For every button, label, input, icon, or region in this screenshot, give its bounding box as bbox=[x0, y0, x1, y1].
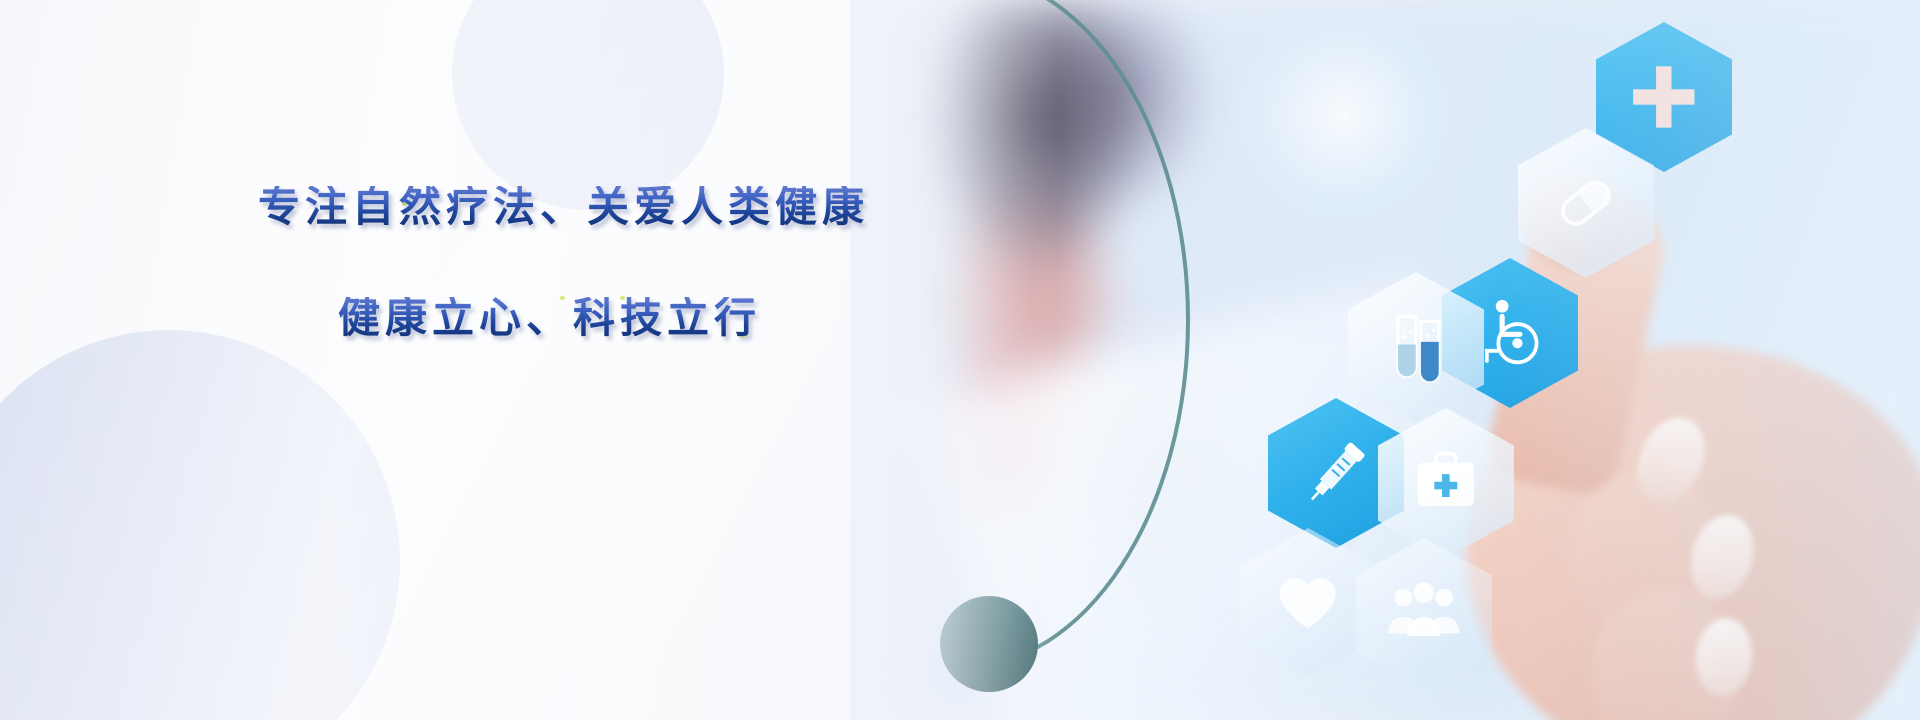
medical-hero-banner: 专注自然疗法、关爱人类健康 健康立心、科技立行 bbox=[0, 0, 1920, 720]
medical-cross-icon bbox=[1623, 52, 1705, 142]
teal-arc-curve bbox=[850, 0, 1190, 670]
hex-tile-medical-bag[interactable] bbox=[1378, 408, 1514, 558]
headline-line-1: 专注自然疗法、关爱人类健康 bbox=[258, 186, 878, 228]
test-tubes-icon bbox=[1375, 302, 1457, 392]
heart-icon bbox=[1267, 558, 1349, 648]
hex-icon-cluster bbox=[1228, 0, 1920, 720]
teal-arc-group bbox=[850, 0, 1250, 720]
headline-block: 专注自然疗法、关爱人类健康 健康立心、科技立行 bbox=[258, 186, 878, 339]
teal-arc-node-circle bbox=[940, 596, 1038, 692]
decorative-circle-top bbox=[452, 0, 724, 210]
medical-bag-icon bbox=[1405, 438, 1487, 528]
photo-panel bbox=[850, 0, 1920, 720]
syringe-icon bbox=[1295, 428, 1377, 518]
decorative-circle-bottom bbox=[0, 330, 400, 720]
capsule-pill-icon bbox=[1545, 158, 1627, 248]
hex-glow-halo bbox=[1228, 0, 1458, 230]
hex-tile-heart[interactable] bbox=[1240, 528, 1376, 678]
headline-line-2: 健康立心、科技立行 bbox=[258, 297, 878, 339]
hex-tile-people[interactable] bbox=[1356, 538, 1492, 688]
people-group-icon bbox=[1383, 568, 1465, 658]
